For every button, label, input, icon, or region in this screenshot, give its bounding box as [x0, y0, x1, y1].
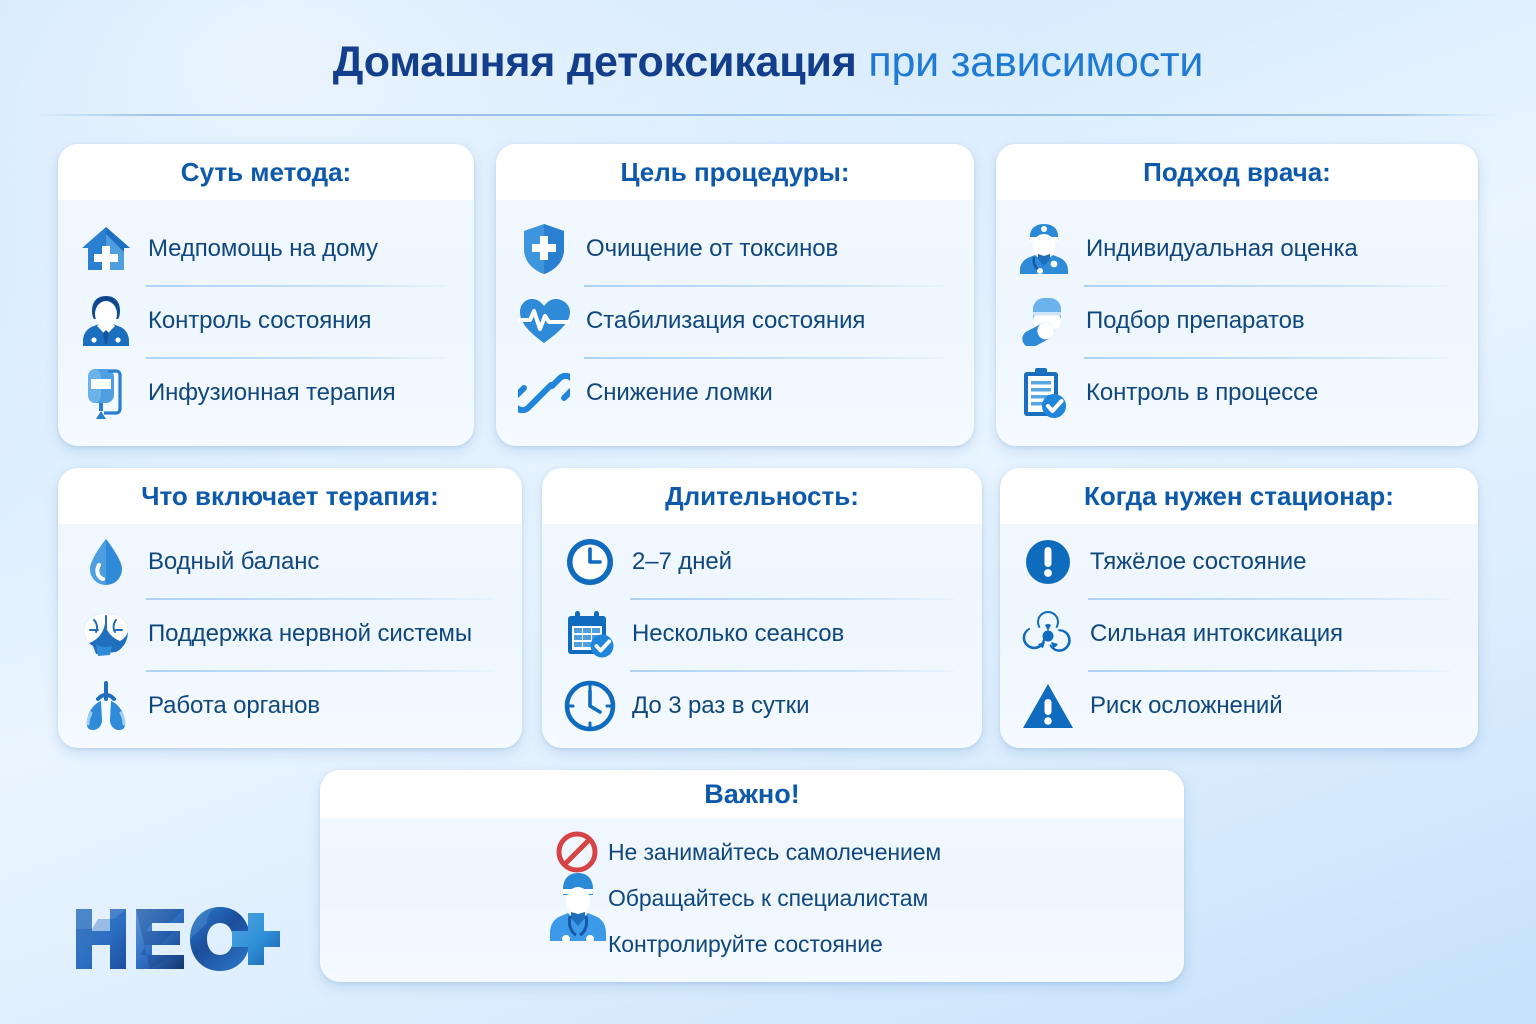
- clock-icon: [562, 533, 618, 591]
- doctor-person-icon: [78, 292, 134, 350]
- list-item-label: Несколько сеансов: [632, 620, 844, 648]
- list-item[interactable]: Несколько сеансов: [562, 598, 960, 670]
- shield-with-cross-icon: [516, 220, 572, 278]
- important-list: Не занимайтесь самолечением Обращайтесь …: [532, 829, 972, 967]
- card-body: 2–7 дней: [542, 524, 982, 748]
- list-item-label: 2–7 дней: [632, 548, 732, 576]
- list-item-label: До 3 раз в сутки: [632, 692, 809, 720]
- list-item[interactable]: Контролируйте состояние: [608, 921, 972, 967]
- list-item-label: Водный баланс: [148, 548, 319, 576]
- card-body: Тяжёлое состояние: [1000, 524, 1478, 748]
- list-item-label: Медпомощь на дому: [148, 235, 378, 263]
- page-title: Домашняя детоксикация при зависимости: [0, 38, 1536, 87]
- house-with-cross-icon: [78, 220, 134, 278]
- card-header: Длительность:: [542, 468, 982, 524]
- heart-pulse-icon: [516, 292, 572, 350]
- pills-icon: [1016, 292, 1072, 350]
- card-body: Индивидуальная оценка Подбор препаратов: [996, 200, 1478, 446]
- list-item[interactable]: Снижение ломки: [516, 357, 952, 429]
- list-item[interactable]: Работа органов: [78, 670, 500, 742]
- list-item-label: Сильная интоксикация: [1090, 620, 1343, 648]
- page-title-strong: Домашняя детоксикация: [333, 38, 857, 86]
- card-title: Что включает терапия:: [141, 481, 439, 512]
- card-header: Подход врача:: [996, 144, 1478, 200]
- list-item[interactable]: Сильная интоксикация: [1020, 598, 1456, 670]
- card-header: Суть метода:: [58, 144, 474, 200]
- list-item-label: Снижение ломки: [586, 379, 773, 407]
- clipboard-check-icon: [1016, 364, 1072, 422]
- brain-icon: [78, 605, 134, 663]
- card-header: Цель процедуры:: [496, 144, 974, 200]
- exclamation-circle-icon: [1020, 533, 1076, 591]
- list-item-label: Подбор препаратов: [1086, 307, 1305, 335]
- card-title: Когда нужен стационар:: [1084, 481, 1394, 512]
- list-item-label: Обращайтесь к специалистам: [608, 885, 928, 912]
- biohazard-icon: [1020, 605, 1076, 663]
- list-item-label: Контроль состояния: [148, 307, 371, 335]
- card-chto-vklyuchaet-terapiya: Что включает терапия: Водный баланс: [58, 468, 522, 748]
- list-item-label: Индивидуальная оценка: [1086, 235, 1358, 263]
- list-item[interactable]: Тяжёлое состояние: [1020, 526, 1456, 598]
- list-item[interactable]: Контроль в процессе: [1016, 357, 1456, 429]
- card-title: Длительность:: [665, 481, 859, 512]
- card-vazhno: Важно!: [320, 770, 1184, 982]
- card-cel-procedury: Цель процедуры: Очищение от токсинов: [496, 144, 974, 446]
- infographic-canvas: Домашняя детоксикация при зависимости Су…: [0, 0, 1536, 1024]
- warning-triangle-icon: [1020, 677, 1076, 735]
- page-title-light: при зависимости: [868, 38, 1203, 86]
- card-body: Не занимайтесь самолечением Обращайтесь …: [320, 818, 1184, 982]
- list-item-label: Поддержка нервной системы: [148, 620, 472, 648]
- list-item[interactable]: Водный баланс: [78, 526, 500, 598]
- list-item[interactable]: Индивидуальная оценка: [1016, 213, 1456, 285]
- iv-drip-icon: [78, 364, 134, 422]
- list-item-label: Контроль в процессе: [1086, 379, 1318, 407]
- card-title: Цель процедуры:: [620, 157, 849, 188]
- card-dlitelnost: Длительность: 2–7 дней: [542, 468, 982, 748]
- card-sut-metoda: Суть метода: Медпомощь на дому: [58, 144, 474, 446]
- list-item[interactable]: Контроль состояния: [78, 285, 452, 357]
- lungs-icon: [78, 677, 134, 735]
- card-body: Медпомощь на дому Контроль состоя: [58, 200, 474, 446]
- list-item[interactable]: 2–7 дней: [562, 526, 960, 598]
- doctor-figure-icon: [550, 869, 606, 969]
- list-item[interactable]: Подбор препаратов: [1016, 285, 1456, 357]
- list-item-label: Контролируйте состояние: [608, 931, 883, 958]
- list-item[interactable]: Поддержка нервной системы: [78, 598, 500, 670]
- list-item-label: Очищение от токсинов: [586, 235, 838, 263]
- card-kogda-nuzhen-stacionar: Когда нужен стационар: Тяжёлое состояние: [1000, 468, 1478, 748]
- card-podhod-vracha: Подход врача: Инд: [996, 144, 1478, 446]
- card-title: Подход врача:: [1143, 157, 1331, 188]
- no-entry-icon: [556, 831, 598, 873]
- card-title: Суть метода:: [181, 157, 351, 188]
- list-item-label: Стабилизация состояния: [586, 307, 865, 335]
- list-item-label: Тяжёлое состояние: [1090, 548, 1306, 576]
- card-header: Важно!: [320, 770, 1184, 818]
- list-item-label: Не занимайтесь самолечением: [608, 839, 941, 866]
- list-item[interactable]: Инфузионная терапия: [78, 357, 452, 429]
- list-item[interactable]: Медпомощь на дому: [78, 213, 452, 285]
- list-item[interactable]: Риск осложнений: [1020, 670, 1456, 742]
- card-header: Что включает терапия:: [58, 468, 522, 524]
- card-header: Когда нужен стационар:: [1000, 468, 1478, 524]
- chain-link-icon: [516, 364, 572, 422]
- doctor-stethoscope-icon: [1016, 220, 1072, 278]
- list-item[interactable]: Стабилизация состояния: [516, 285, 952, 357]
- water-drop-icon: [78, 533, 134, 591]
- list-item-label: Риск осложнений: [1090, 692, 1283, 720]
- card-title: Важно!: [704, 779, 799, 810]
- list-item[interactable]: Обращайтесь к специалистам: [608, 875, 972, 921]
- list-item[interactable]: До 3 раз в сутки: [562, 670, 960, 742]
- calendar-check-icon: [562, 605, 618, 663]
- card-body: Очищение от токсинов Стабилизация состоя…: [496, 200, 974, 446]
- title-divider: [36, 114, 1500, 116]
- clock-ticks-icon: [562, 677, 618, 735]
- list-item-label: Инфузионная терапия: [148, 379, 396, 407]
- card-body: Водный баланс: [58, 524, 522, 748]
- list-item[interactable]: Очищение от токсинов: [516, 213, 952, 285]
- brand-logo: [72, 903, 288, 975]
- list-item[interactable]: Не занимайтесь самолечением: [608, 829, 972, 875]
- list-item-label: Работа органов: [148, 692, 320, 720]
